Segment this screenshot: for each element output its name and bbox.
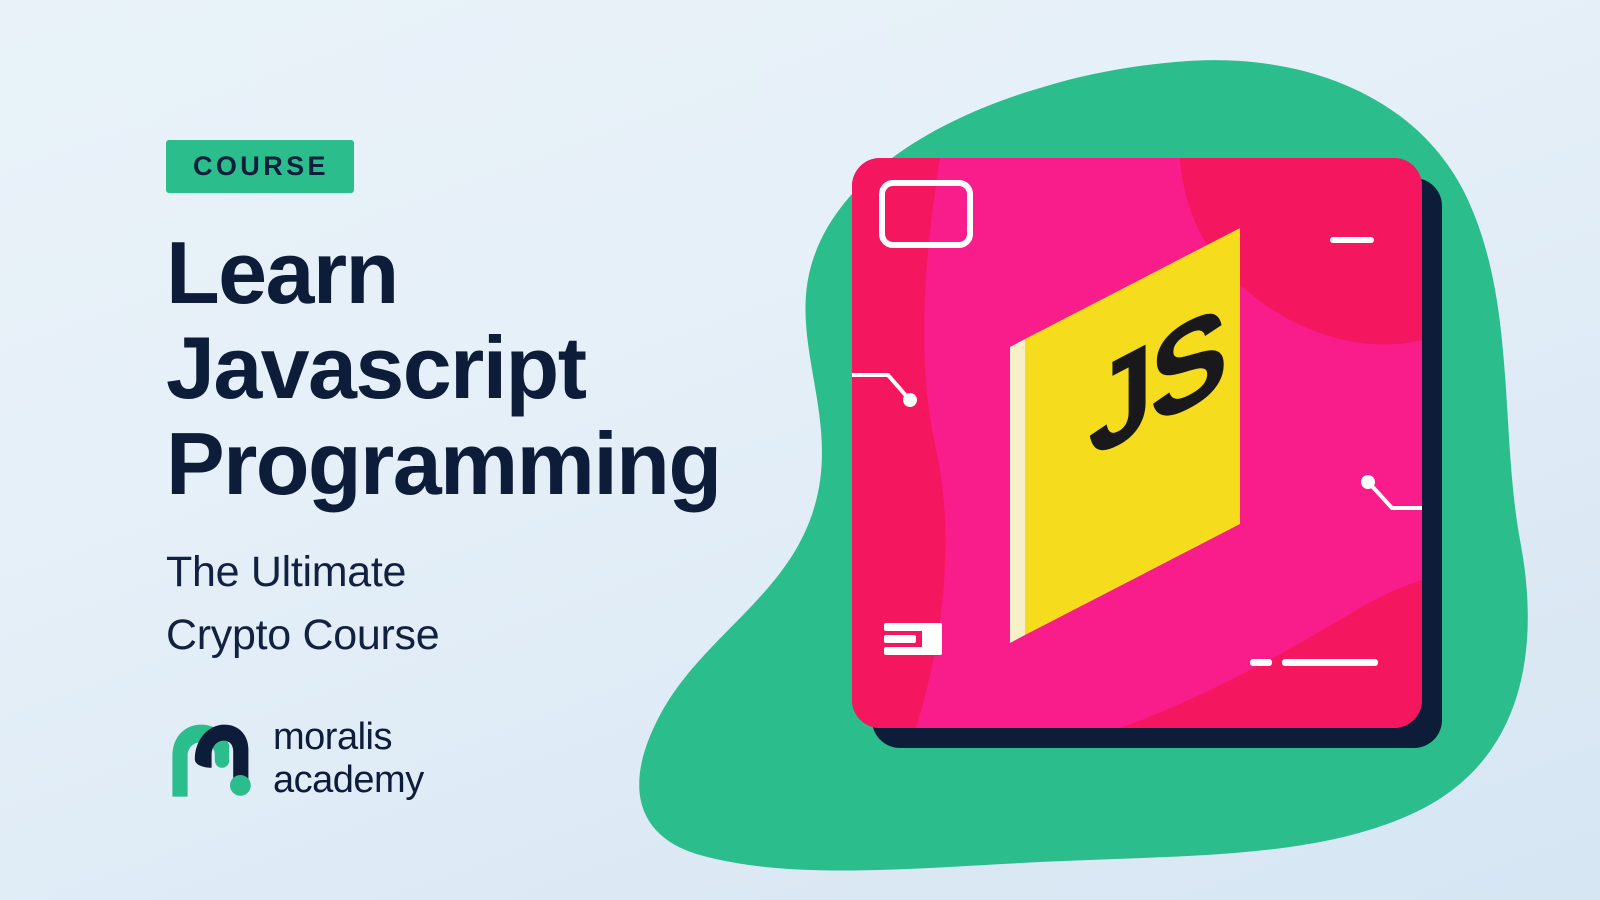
subheadline-line-1: The Ultimate xyxy=(166,541,786,603)
course-badge: COURSE xyxy=(166,140,354,193)
js-tile-edge xyxy=(1010,339,1025,643)
moralis-academy-logo: moralis academy xyxy=(166,716,786,801)
course-banner: COURSE Learn Javascript Programming The … xyxy=(0,0,1600,900)
headline: Learn Javascript Programming xyxy=(166,225,786,511)
moralis-m-mark-icon xyxy=(166,719,254,799)
bottom-right-dashes-icon xyxy=(1250,659,1378,666)
banner-content: COURSE Learn Javascript Programming The … xyxy=(166,140,786,801)
top-right-dash-icon xyxy=(1330,237,1374,243)
subheadline-line-2: Crypto Course xyxy=(166,604,786,666)
logo-wordmark-line-1: moralis xyxy=(273,716,424,759)
subheadline: The Ultimate Crypto Course xyxy=(166,541,786,666)
headline-line-3: Programming xyxy=(166,416,786,511)
headline-line-2: Javascript xyxy=(166,320,786,415)
headline-line-1: Learn xyxy=(166,225,786,320)
js-illustration: JS xyxy=(820,110,1500,790)
list-bars-glyph-icon xyxy=(884,623,942,655)
logo-wordmark-line-2: academy xyxy=(273,759,424,802)
logo-wordmark: moralis academy xyxy=(273,716,424,801)
